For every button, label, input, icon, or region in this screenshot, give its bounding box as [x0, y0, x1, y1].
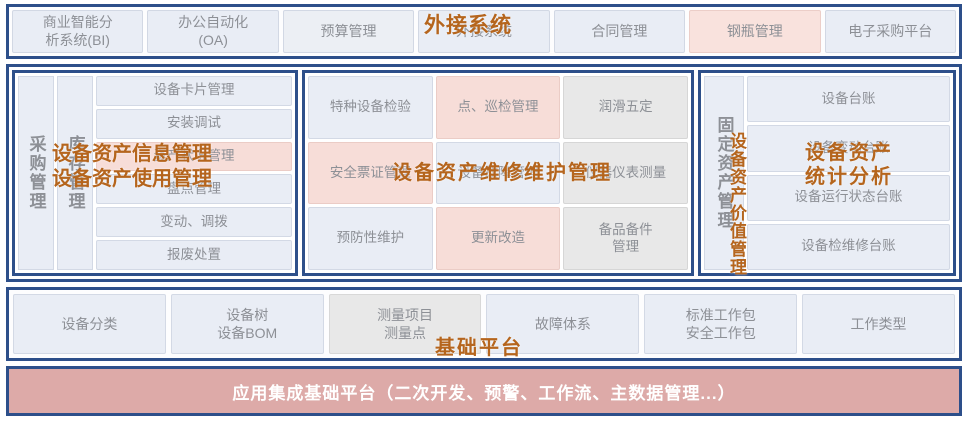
asset-lifecycle-band: 采购管理 库存管理 设备卡片管理 安装调试 资产状况管理 盘点管理 变动、调拨 … — [6, 64, 962, 282]
top-cell-budget-label: 预算管理 — [321, 23, 377, 41]
maintenance-group: 特种设备检验 点、巡检管理 润滑五定 安全票证管理 设备故障管理 仪器仪表测量 … — [302, 70, 694, 276]
cell-work-type[interactable]: 工作类型 — [802, 294, 955, 354]
cell-fault-system-label: 故障体系 — [535, 315, 591, 333]
cell-fault-management-label: 设备故障管理 — [457, 165, 538, 182]
cell-instrument-measure[interactable]: 仪器仪表测量 — [563, 142, 688, 205]
vertical-label-fixed-asset-text: 固定资产管理 — [712, 116, 737, 230]
architecture-diagram: 商业智能分 析系统(BI) 办公自动化 (OA) 预算管理 外接系统 合同管理 … — [0, 0, 968, 435]
cell-renovation-label: 更新改造 — [471, 230, 525, 247]
top-cell-eprocure[interactable]: 电子采购平台 — [825, 10, 956, 53]
cell-asset-status-label: 资产状况管理 — [154, 148, 235, 165]
cell-change-ledger[interactable]: 设备变动台账 — [747, 125, 950, 171]
cell-special-inspection[interactable]: 特种设备检验 — [308, 76, 433, 139]
cell-repair-ledger-label: 设备检维修台账 — [801, 238, 896, 255]
cell-spare-parts-label: 备品备件 管理 — [599, 222, 653, 256]
cell-work-package-label: 标准工作包 安全工作包 — [686, 306, 756, 342]
asset-info-use-group: 采购管理 库存管理 设备卡片管理 安装调试 资产状况管理 盘点管理 变动、调拨 … — [12, 70, 298, 276]
top-cell-budget[interactable]: 预算管理 — [283, 10, 414, 53]
cell-stocktaking-label: 盘点管理 — [167, 181, 221, 198]
cell-measure-point-label: 测量项目 测量点 — [377, 306, 433, 342]
cell-asset-status[interactable]: 资产状况管理 — [96, 142, 292, 172]
foundation-platform-band: 设备分类 设备树 设备BOM 测量项目 测量点 故障体系 标准工作包 安全工作包… — [6, 287, 962, 361]
top-cell-oa[interactable]: 办公自动化 (OA) — [147, 10, 278, 53]
top-cell-external[interactable]: 外接系统 — [418, 10, 549, 53]
cell-instrument-measure-label: 仪器仪表测量 — [585, 165, 666, 182]
cell-repair-ledger[interactable]: 设备检维修台账 — [747, 224, 950, 270]
top-cell-cylinder[interactable]: 钢瓶管理 — [689, 10, 820, 53]
top-cell-oa-label: 办公自动化 (OA) — [178, 14, 248, 49]
vertical-label-fixed-asset: 固定资产管理 — [704, 76, 744, 270]
cell-equipment-card-label: 设备卡片管理 — [154, 82, 235, 99]
cell-equipment-category[interactable]: 设备分类 — [13, 294, 166, 354]
cell-transfer[interactable]: 变动、调拨 — [96, 207, 292, 237]
cell-equipment-ledger-label: 设备台账 — [822, 91, 876, 108]
external-systems-band: 商业智能分 析系统(BI) 办公自动化 (OA) 预算管理 外接系统 合同管理 … — [6, 4, 962, 59]
cell-patrol-inspection-label: 点、巡检管理 — [457, 99, 538, 116]
top-cell-cylinder-label: 钢瓶管理 — [727, 23, 783, 41]
cell-fault-management[interactable]: 设备故障管理 — [436, 142, 561, 205]
top-cell-bi[interactable]: 商业智能分 析系统(BI) — [12, 10, 143, 53]
left-group-stack: 设备卡片管理 安装调试 资产状况管理 盘点管理 变动、调拨 报废处置 — [96, 76, 292, 270]
cell-spare-parts[interactable]: 备品备件 管理 — [563, 207, 688, 270]
fixed-asset-group: 固定资产管理 设备台账 设备变动台账 设备运行状态台账 设备检维修台账 — [698, 70, 956, 276]
integration-platform-banner-label: 应用集成基础平台（二次开发、预警、工作流、主数据管理...） — [232, 379, 735, 404]
top-cell-eprocure-label: 电子采购平台 — [848, 23, 932, 41]
cell-patrol-inspection[interactable]: 点、巡检管理 — [436, 76, 561, 139]
cell-scrap-disposal-label: 报废处置 — [167, 247, 221, 264]
integration-platform-banner: 应用集成基础平台（二次开发、预警、工作流、主数据管理...） — [6, 366, 962, 416]
cell-install-debug[interactable]: 安装调试 — [96, 109, 292, 139]
cell-install-debug-label: 安装调试 — [167, 115, 221, 132]
cell-equipment-card[interactable]: 设备卡片管理 — [96, 76, 292, 106]
maintenance-grid: 特种设备检验 点、巡检管理 润滑五定 安全票证管理 设备故障管理 仪器仪表测量 … — [308, 76, 688, 270]
vertical-label-inventory: 库存管理 — [57, 76, 93, 270]
cell-lubrication-label: 润滑五定 — [599, 99, 653, 116]
top-cell-bi-label: 商业智能分 析系统(BI) — [43, 14, 113, 49]
top-cell-contract[interactable]: 合同管理 — [554, 10, 685, 53]
cell-equipment-ledger[interactable]: 设备台账 — [747, 76, 950, 122]
vertical-label-procurement: 采购管理 — [18, 76, 54, 270]
cell-measure-point[interactable]: 测量项目 测量点 — [329, 294, 482, 354]
cell-scrap-disposal[interactable]: 报废处置 — [96, 240, 292, 270]
cell-fault-system[interactable]: 故障体系 — [486, 294, 639, 354]
cell-lubrication[interactable]: 润滑五定 — [563, 76, 688, 139]
right-group-stack: 设备台账 设备变动台账 设备运行状态台账 设备检维修台账 — [747, 76, 950, 270]
cell-equipment-tree-bom[interactable]: 设备树 设备BOM — [171, 294, 324, 354]
cell-operating-status-ledger[interactable]: 设备运行状态台账 — [747, 175, 950, 221]
cell-transfer-label: 变动、调拨 — [160, 214, 228, 231]
cell-work-package[interactable]: 标准工作包 安全工作包 — [644, 294, 797, 354]
top-cell-external-label: 外接系统 — [456, 23, 512, 41]
cell-safety-permit[interactable]: 安全票证管理 — [308, 142, 433, 205]
cell-operating-status-ledger-label: 设备运行状态台账 — [795, 189, 903, 206]
cell-equipment-category-label: 设备分类 — [61, 315, 117, 333]
vertical-label-procurement-text: 采购管理 — [24, 135, 49, 211]
cell-stocktaking[interactable]: 盘点管理 — [96, 174, 292, 204]
cell-change-ledger-label: 设备变动台账 — [808, 140, 889, 157]
cell-special-inspection-label: 特种设备检验 — [330, 99, 411, 116]
cell-safety-permit-label: 安全票证管理 — [330, 165, 411, 182]
cell-preventive-maint-label: 预防性维护 — [337, 230, 405, 247]
cell-work-type-label: 工作类型 — [851, 315, 907, 333]
cell-preventive-maint[interactable]: 预防性维护 — [308, 207, 433, 270]
top-cell-contract-label: 合同管理 — [591, 23, 647, 41]
cell-equipment-tree-bom-label: 设备树 设备BOM — [217, 306, 277, 342]
cell-renovation[interactable]: 更新改造 — [436, 207, 561, 270]
vertical-label-inventory-text: 库存管理 — [63, 135, 88, 211]
